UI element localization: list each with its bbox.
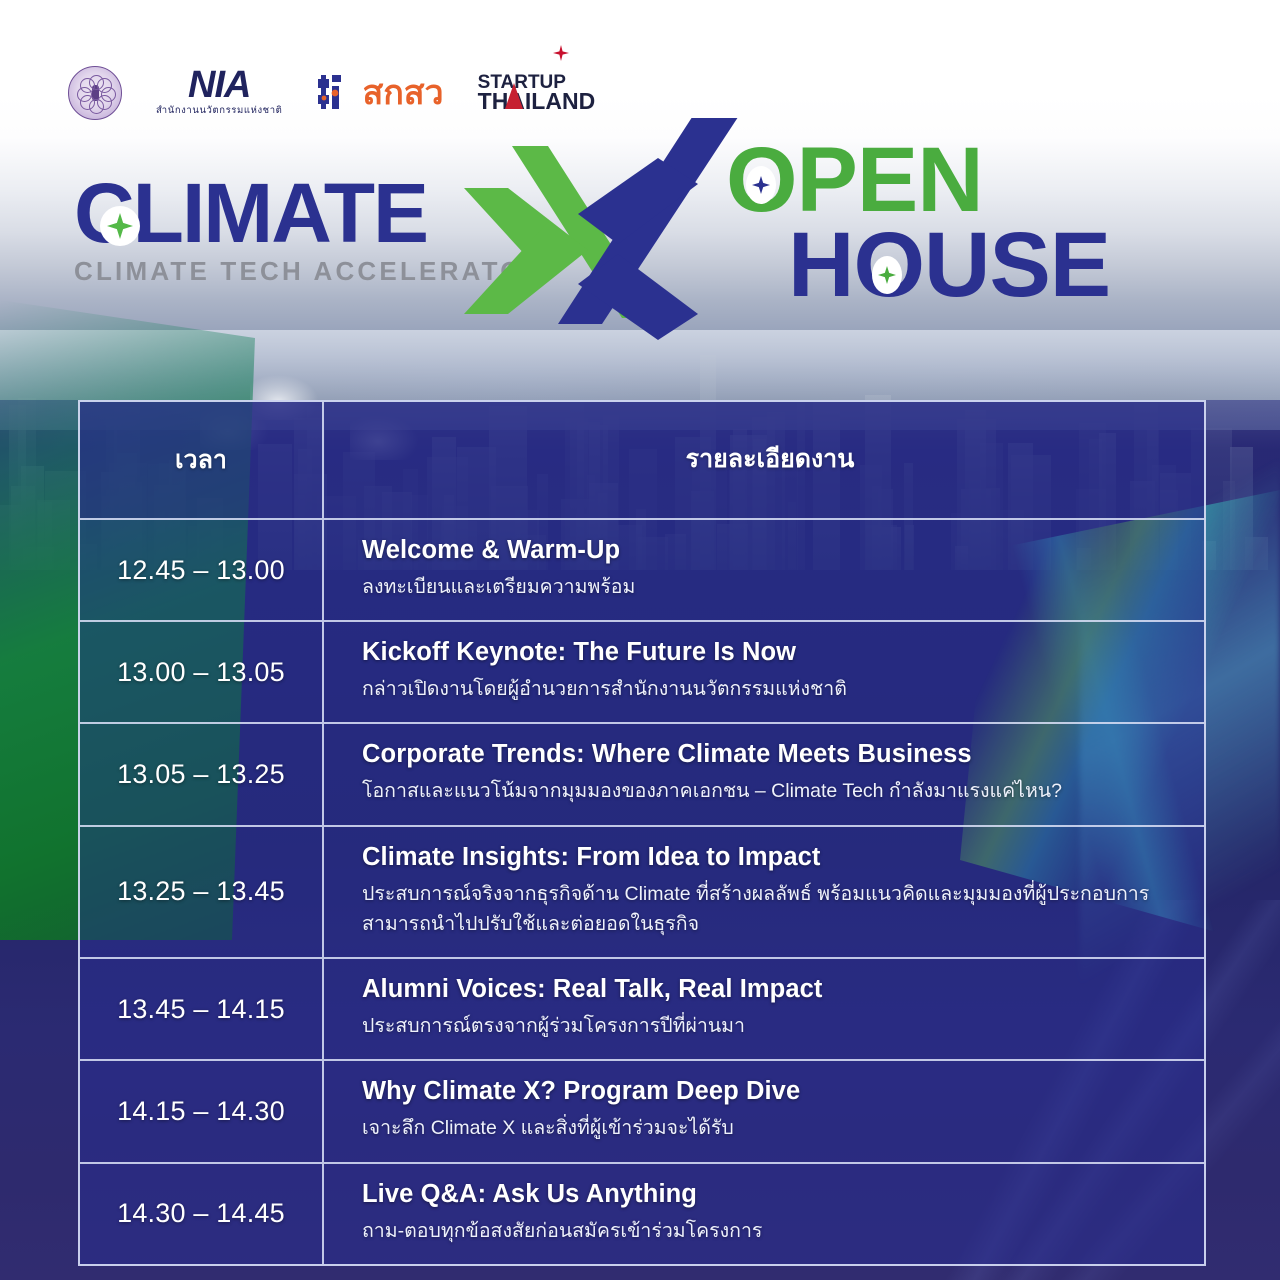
startup-thailand-logo: STARTUP THAILAND <box>478 74 596 113</box>
agenda-detail-cell: Corporate Trends: Where Climate Meets Bu… <box>324 724 1204 824</box>
agenda-row: 12.45 – 13.00Welcome & Warm-Upลงทะเบียนแ… <box>80 520 1204 622</box>
agenda-time-cell: 13.05 – 13.25 <box>80 724 324 824</box>
agenda-time-value: 14.15 – 14.30 <box>117 1096 285 1127</box>
agenda-session-title: Welcome & Warm-Up <box>362 536 1178 565</box>
agenda-time-cell: 13.25 – 13.45 <box>80 827 324 957</box>
agenda-row: 13.05 – 13.25Corporate Trends: Where Cli… <box>80 724 1204 826</box>
agenda-session-subtitle: กล่าวเปิดงานโดยผู้อำนวยการสำนักงานนวัตกร… <box>362 674 1178 704</box>
agenda-session-title: Climate Insights: From Idea to Impact <box>362 843 1178 872</box>
headline-block: CLIMATE CLIMATE TECH ACCELERATOR OPEN HO… <box>0 132 1280 322</box>
agenda-session-title: Alumni Voices: Real Talk, Real Impact <box>362 975 1178 1004</box>
agenda-session-subtitle: โอกาสและแนวโน้มจากมุมมองของภาคเอกชน – Cl… <box>362 776 1178 806</box>
agenda-row: 14.15 – 14.30Why Climate X? Program Deep… <box>80 1061 1204 1163</box>
agenda-row: 14.30 – 14.45Live Q&A: Ask Us Anythingถา… <box>80 1164 1204 1264</box>
agenda-session-subtitle: ถาม-ตอบทุกข้อสงสัยก่อนสมัครเข้าร่วมโครงก… <box>362 1216 1178 1246</box>
agenda-time-cell: 14.15 – 14.30 <box>80 1061 324 1161</box>
agenda-time-cell: 13.00 – 13.05 <box>80 622 324 722</box>
agenda-detail-cell: Why Climate X? Program Deep Diveเจาะลึก … <box>324 1061 1204 1161</box>
agenda-header-detail-cell: รายละเอียดงาน <box>324 402 1204 518</box>
agenda-time-cell: 14.30 – 14.45 <box>80 1164 324 1264</box>
agenda-time-value: 13.25 – 13.45 <box>117 876 285 907</box>
nia-wordmark: NIA <box>188 68 250 103</box>
agenda-session-subtitle: เจาะลึก Climate X และสิ่งที่ผู้เข้าร่วมจ… <box>362 1113 1178 1143</box>
agenda-detail-cell: Welcome & Warm-Upลงทะเบียนและเตรียมความพ… <box>324 520 1204 620</box>
partner-logo-bar: NIA สำนักงานนวัตกรรมแห่งชาติ สกสว STARTU… <box>68 62 595 124</box>
royal-seal-logo <box>68 66 122 120</box>
open-line: OPEN <box>726 138 1110 223</box>
seal-petal-icon <box>97 78 112 93</box>
tsri-mark-icon <box>316 73 356 113</box>
brand-diamond-icon <box>100 206 140 246</box>
agenda-session-subtitle: ประสบการณ์ตรงจากผู้ร่วมโครงการปีที่ผ่านม… <box>362 1011 1178 1041</box>
open-house-title: OPEN HOUSE <box>726 138 1110 307</box>
agenda-header-detail-label: รายละเอียดงาน <box>362 439 1178 479</box>
nia-subtitle: สำนักงานนวัตกรรมแห่งชาติ <box>156 103 282 118</box>
agenda-session-title: Corporate Trends: Where Climate Meets Bu… <box>362 740 1178 769</box>
agenda-session-title: Live Q&A: Ask Us Anything <box>362 1180 1178 1209</box>
agenda-session-title: Kickoff Keynote: The Future Is Now <box>362 638 1178 667</box>
tsri-wordmark: สกสว <box>362 76 443 110</box>
agenda-detail-cell: Climate Insights: From Idea to Impactประ… <box>324 827 1204 957</box>
agenda-session-title: Why Climate X? Program Deep Dive <box>362 1077 1178 1106</box>
agenda-detail-cell: Alumni Voices: Real Talk, Real Impactประ… <box>324 959 1204 1059</box>
agenda-table: เวลา รายละเอียดงาน 12.45 – 13.00Welcome … <box>78 400 1206 1266</box>
agenda-detail-cell: Live Q&A: Ask Us Anythingถาม-ตอบทุกข้อสง… <box>324 1164 1204 1264</box>
startup-red-triangle-icon <box>505 83 523 109</box>
agenda-time-value: 13.00 – 13.05 <box>117 657 285 688</box>
agenda-time-value: 13.05 – 13.25 <box>117 759 285 790</box>
agenda-row: 13.25 – 13.45Climate Insights: From Idea… <box>80 827 1204 959</box>
agenda-time-cell: 12.45 – 13.00 <box>80 520 324 620</box>
agenda-header-time-label: เวลา <box>88 440 314 480</box>
startup-line2: THAILAND <box>478 91 596 112</box>
house-line: HOUSE <box>788 223 1110 308</box>
open-o-diamond-icon <box>746 166 776 204</box>
agenda-row: 13.45 – 14.15Alumni Voices: Real Talk, R… <box>80 959 1204 1061</box>
x-logo-icon <box>452 118 752 348</box>
nia-star-icon <box>553 45 569 61</box>
agenda-time-value: 13.45 – 14.15 <box>117 994 285 1025</box>
agenda-row: 13.00 – 13.05Kickoff Keynote: The Future… <box>80 622 1204 724</box>
agenda-session-subtitle: ประสบการณ์จริงจากธุรกิจด้าน Climate ที่ส… <box>362 879 1178 939</box>
agenda-header-time-cell: เวลา <box>80 402 324 518</box>
agenda-session-subtitle: ลงทะเบียนและเตรียมความพร้อม <box>362 572 1178 602</box>
agenda-time-value: 14.30 – 14.45 <box>117 1198 285 1229</box>
house-o-diamond-icon <box>872 256 902 294</box>
poster-canvas: NIA สำนักงานนวัตกรรมแห่งชาติ สกสว STARTU… <box>0 0 1280 1280</box>
agenda-time-cell: 13.45 – 14.15 <box>80 959 324 1059</box>
agenda-header-row: เวลา รายละเอียดงาน <box>80 402 1204 520</box>
nia-logo: NIA สำนักงานนวัตกรรมแห่งชาติ <box>156 68 282 119</box>
agenda-detail-cell: Kickoff Keynote: The Future Is Nowกล่าวเ… <box>324 622 1204 722</box>
agenda-time-value: 12.45 – 13.00 <box>117 555 285 586</box>
tsri-logo: สกสว <box>316 73 443 113</box>
